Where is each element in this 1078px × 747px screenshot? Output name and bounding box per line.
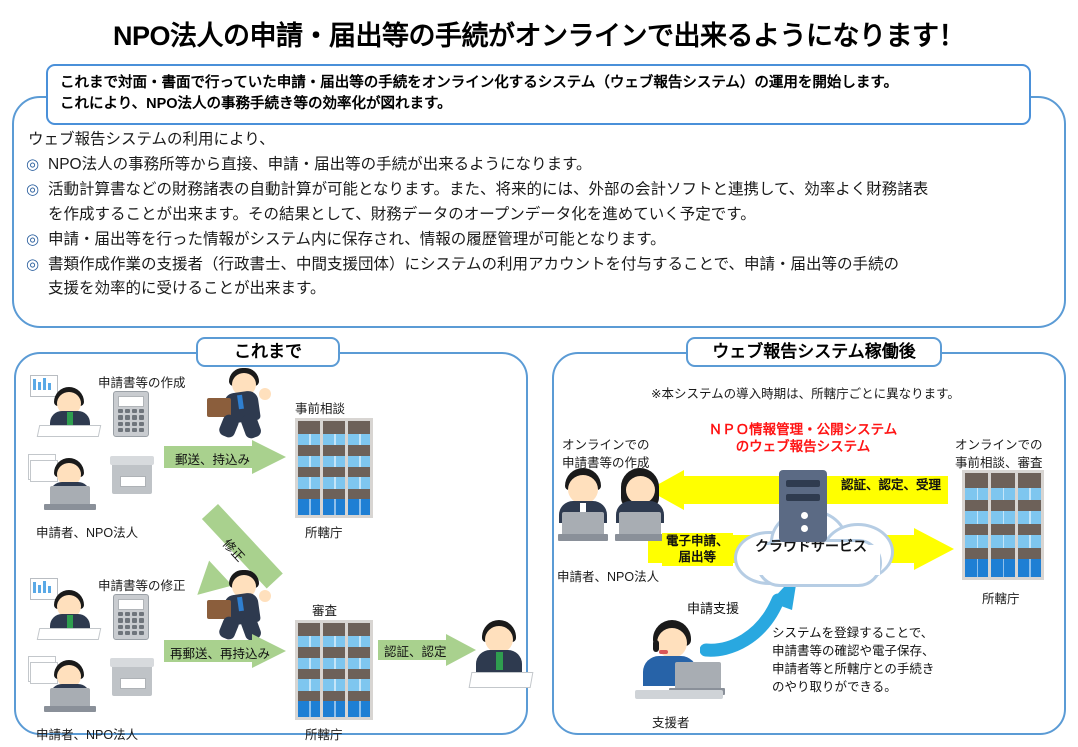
support-note: システムを登録することで、 申請書等の確認や電子保存、 申請者等と所轄庁との手続… — [772, 624, 935, 697]
online-applicants-label: 申請者、NPO法人 — [557, 566, 659, 585]
chart-paper-icon — [30, 578, 58, 600]
label-agency-bottom: 所轄庁 — [305, 724, 343, 743]
applicant-person-top-2 — [28, 452, 108, 514]
calculator-icon — [113, 594, 149, 640]
list-item-line: を作成することが出来ます。その結果として、財務データのオープンデータ化を進めてい… — [48, 203, 1056, 227]
file-box-icon — [112, 662, 152, 696]
file-box-icon — [112, 460, 152, 494]
running-person-bottom — [205, 570, 285, 640]
desk-paper — [37, 425, 102, 437]
list-item-line: 申請・届出等を行った情報がシステム内に保存され、情報の履歴管理が可能となります。 — [48, 231, 666, 248]
headset-mic — [659, 650, 668, 654]
face — [626, 476, 655, 504]
label-fix-documents: 申請書等の修正 — [98, 575, 186, 594]
online-applicant-male — [556, 468, 612, 546]
label-prior-consultation: 事前相談 — [295, 398, 345, 417]
face — [485, 626, 513, 653]
lead-line-2: これにより、NPO法人の事務手続き等の効率化が図れます。 — [60, 94, 1017, 115]
applicant-person-bottom-2 — [28, 654, 108, 716]
left-caption-line-1: オンラインでの — [562, 434, 650, 453]
applicant-person-bottom — [30, 578, 102, 640]
calculator-icon — [113, 391, 149, 437]
agency-building-right — [962, 470, 1044, 580]
list-item-line: 書類作成作業の支援者（行政書士、中間支援団体）にシステムの利用アカウントを付与す… — [48, 256, 899, 273]
double-circle-icon: ◎ — [26, 253, 48, 276]
panel-before-title: これまで — [196, 337, 340, 367]
infographic-page: NPO法人の申請・届出等の手続がオンラインで出来るようになります！ これまで対面… — [0, 0, 1078, 747]
support-person — [629, 620, 725, 708]
label-create-documents: 申請書等の作成 — [98, 372, 186, 391]
label-examination: 審査 — [312, 600, 337, 619]
arrow-mail-submit-label: 郵送、持込み — [175, 449, 250, 468]
right-caption-line-1: オンラインでの — [955, 434, 1043, 453]
tie — [67, 615, 73, 628]
list-item-text: NPO法人の事務所等から直接、申請・届出等の手続が出来るようになります。 — [48, 153, 1056, 177]
chart-paper-icon — [30, 375, 58, 397]
label-applicant-top: 申請者、NPO法人 — [36, 522, 138, 541]
face — [568, 475, 598, 504]
list-item-line: 活動計算書などの財務諸表の自動計算が可能となります。また、将来的には、外部の会計… — [48, 181, 928, 198]
system-name-line-2: のウェブ報告システム — [693, 438, 913, 456]
desk — [635, 690, 723, 699]
hand — [259, 590, 271, 602]
list-item-line: NPO法人の事務所等から直接、申請・届出等の手続が出来るようになります。 — [48, 156, 592, 173]
arrow-resubmit-label: 再郵送、再持込み — [170, 643, 270, 662]
list-item: ◎ 申請・届出等を行った情報がシステム内に保存され、情報の履歴管理が可能となりま… — [26, 228, 1056, 252]
panel-after-title: ウェブ報告システム稼働後 — [686, 337, 942, 367]
benefit-list: ウェブ報告システムの利用により、 ◎ NPO法人の事務所等から直接、申請・届出等… — [26, 128, 1056, 301]
tie — [67, 412, 73, 425]
lead-line-1: これまで対面・書面で行っていた申請・届出等の手続をオンライン化するシステム（ウェ… — [60, 73, 1017, 94]
right-building-label: 所轄庁 — [982, 588, 1020, 607]
list-item: ◎ 活動計算書などの財務諸表の自動計算が可能となります。また、将来的には、外部の… — [26, 178, 1056, 226]
approved-person — [470, 620, 532, 692]
double-circle-icon: ◎ — [26, 153, 48, 176]
double-circle-icon: ◎ — [26, 228, 48, 251]
running-person-top — [205, 368, 285, 438]
list-item-text: 申請・届出等を行った情報がシステム内に保存され、情報の履歴管理が可能となります。 — [48, 228, 1056, 252]
list-item-text: 活動計算書などの財務諸表の自動計算が可能となります。また、将来的には、外部の会計… — [48, 178, 1056, 226]
laptop-icon — [44, 486, 96, 512]
right-caption-line-2: 事前相談、審査 — [955, 452, 1043, 471]
rollout-note: ※本システムの導入時期は、所轄庁ごとに異なります。 — [651, 383, 960, 402]
page-title: NPO法人の申請・届出等の手続がオンラインで出来るようになります！ — [0, 14, 1078, 53]
system-name-line-1: ＮＰＯ情報管理・公開システム — [693, 421, 913, 439]
lead-callout: これまで対面・書面で行っていた申請・届出等の手続をオンライン化するシステム（ウェ… — [46, 64, 1031, 125]
benefit-intro: ウェブ報告システムの利用により、 — [28, 128, 1056, 152]
laptop-icon — [558, 512, 608, 542]
support-person-label: 支援者 — [652, 712, 690, 731]
double-circle-icon: ◎ — [26, 178, 48, 201]
hand — [259, 388, 271, 400]
tie — [496, 652, 503, 670]
arrow-certify-label: 認証、認定 — [384, 641, 447, 660]
list-item: ◎ 書類作成作業の支援者（行政書士、中間支援団体）にシステムの利用アカウントを付… — [26, 253, 1056, 301]
support-arrow-label: 申請支援 — [687, 598, 739, 617]
headset-icon — [653, 640, 659, 652]
applicant-person-top — [30, 375, 102, 437]
desk-paper — [37, 628, 102, 640]
label-applicant-bottom: 申請者、NPO法人 — [36, 724, 138, 743]
arrow-e-application-label: 電子申請、 届出等 — [662, 533, 733, 566]
agency-building-bottom — [295, 620, 373, 720]
list-item-text: 書類作成作業の支援者（行政書士、中間支援団体）にシステムの利用アカウントを付与す… — [48, 253, 1056, 301]
laptop-icon — [615, 512, 665, 542]
server-icon — [779, 470, 827, 542]
laptop-icon — [44, 688, 96, 714]
desk-paper — [469, 672, 534, 688]
arrow-e-application-label-line-2: 届出等 — [679, 550, 717, 564]
arrow-certify-accept-label: 認証、認定、受理 — [838, 477, 944, 495]
list-item-line: 支援を効率的に受けることが出来ます。 — [48, 277, 1056, 301]
arrow-e-application-label-line-1: 電子申請、 — [666, 534, 729, 548]
online-applicant-female — [613, 468, 669, 546]
list-item: ◎ NPO法人の事務所等から直接、申請・届出等の手続が出来るようになります。 — [26, 153, 1056, 177]
